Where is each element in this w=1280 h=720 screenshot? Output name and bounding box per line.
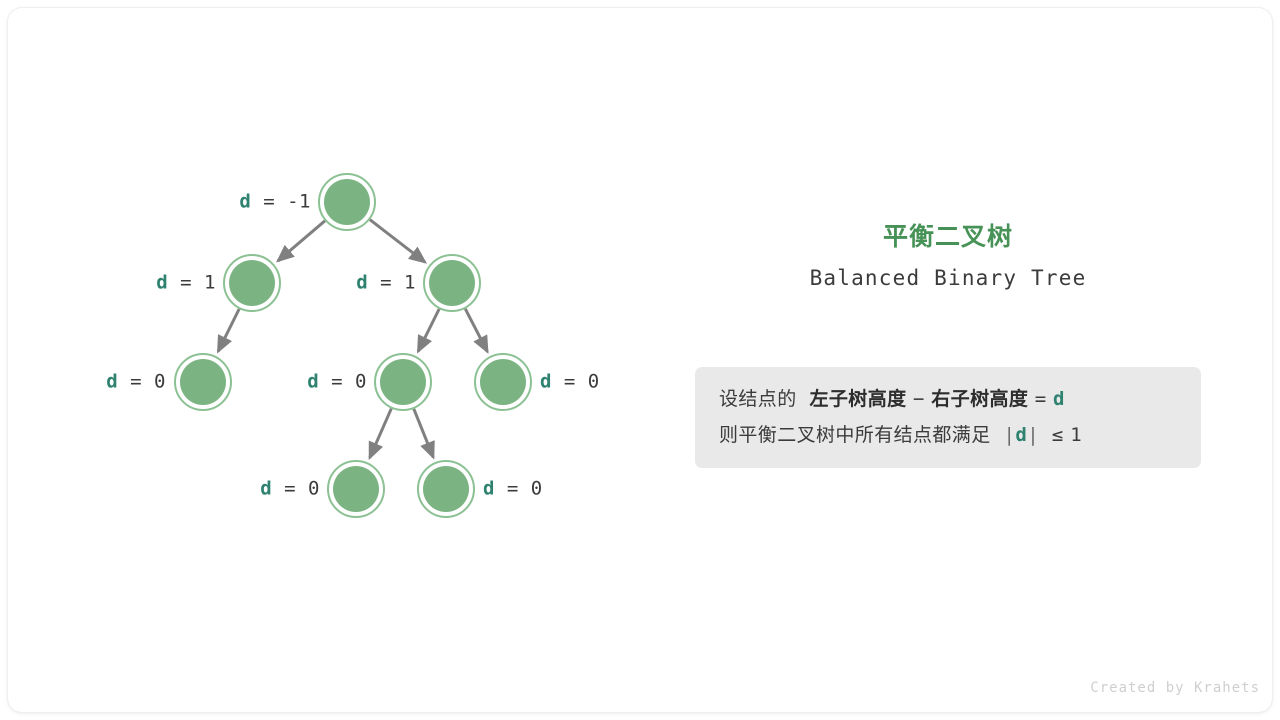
formula-minus: − bbox=[913, 388, 925, 410]
node-balance-label: d = 0 bbox=[106, 373, 166, 392]
tree-node bbox=[328, 461, 384, 517]
node-fill bbox=[380, 359, 426, 405]
node-label-variable: d bbox=[483, 478, 495, 500]
formula-box: 设结点的 左子树高度 − 右子树高度 = d 则平衡二叉树中所有结点都满足 |d… bbox=[695, 367, 1201, 468]
tree-node bbox=[475, 354, 531, 410]
node-label-variable: d bbox=[106, 371, 118, 393]
node-label-variable: d bbox=[239, 191, 251, 213]
node-fill bbox=[229, 260, 275, 306]
formula-term-right: 右子树高度 bbox=[931, 388, 1028, 410]
tree-edge bbox=[278, 221, 325, 261]
node-label-value: = 1 bbox=[168, 272, 216, 294]
node-fill bbox=[333, 466, 379, 512]
tree-edge bbox=[465, 309, 487, 352]
tree-edge bbox=[370, 409, 392, 458]
node-balance-label: d = 1 bbox=[156, 274, 216, 293]
tree-node bbox=[375, 354, 431, 410]
node-balance-label: d = 0 bbox=[540, 373, 600, 392]
node-label-value: = 0 bbox=[552, 371, 600, 393]
node-fill bbox=[480, 359, 526, 405]
node-label-variable: d bbox=[540, 371, 552, 393]
node-label-value: = 0 bbox=[118, 371, 166, 393]
binary-tree-graphic bbox=[0, 0, 1280, 720]
node-label-variable: d bbox=[156, 272, 168, 294]
tree-edge bbox=[370, 220, 425, 263]
panel-title: 平衡二叉树 bbox=[695, 222, 1201, 252]
node-balance-label: d = 0 bbox=[483, 480, 543, 499]
tree-nodes bbox=[175, 174, 531, 517]
node-fill bbox=[429, 260, 475, 306]
node-balance-label: d = 0 bbox=[260, 480, 320, 499]
tree-edge bbox=[418, 309, 439, 352]
formula-variable-d-abs: d bbox=[1015, 424, 1027, 446]
diagram-canvas: d = -1d = 1d = 1d = 0d = 0d = 0d = 0d = … bbox=[0, 0, 1280, 720]
tree-edge bbox=[218, 309, 239, 352]
tree-node bbox=[418, 461, 474, 517]
formula-relation: ≤ bbox=[1052, 424, 1064, 446]
formula-term-left: 左子树高度 bbox=[810, 388, 907, 410]
node-label-value: = 0 bbox=[272, 478, 320, 500]
node-label-variable: d bbox=[307, 371, 319, 393]
panel-subtitle: Balanced Binary Tree bbox=[695, 266, 1201, 291]
formula-equals: = bbox=[1035, 388, 1047, 410]
node-balance-label: d = 1 bbox=[356, 274, 416, 293]
tree-edge bbox=[414, 409, 434, 458]
formula-prefix-2: 则平衡二叉树中所有结点都满足 bbox=[719, 424, 991, 446]
node-label-value: = 0 bbox=[495, 478, 543, 500]
node-balance-label: d = 0 bbox=[307, 373, 367, 392]
tree-node bbox=[319, 174, 375, 230]
credit-text: Created by Krahets bbox=[1090, 680, 1260, 696]
formula-value: 1 bbox=[1070, 424, 1082, 446]
info-panel: 平衡二叉树 Balanced Binary Tree bbox=[695, 222, 1201, 291]
tree-node bbox=[224, 255, 280, 311]
node-label-variable: d bbox=[260, 478, 272, 500]
node-fill bbox=[180, 359, 226, 405]
abs-bar-close: | bbox=[1027, 424, 1039, 446]
node-balance-label: d = -1 bbox=[239, 193, 311, 212]
tree-node bbox=[175, 354, 231, 410]
node-label-value: = 1 bbox=[368, 272, 416, 294]
formula-prefix-1: 设结点的 bbox=[719, 388, 797, 410]
node-fill bbox=[324, 179, 370, 225]
tree-node bbox=[424, 255, 480, 311]
node-label-variable: d bbox=[356, 272, 368, 294]
node-label-value: = -1 bbox=[251, 191, 311, 213]
node-label-value: = 0 bbox=[319, 371, 367, 393]
formula-line-1: 设结点的 左子树高度 − 右子树高度 = d bbox=[719, 381, 1177, 417]
formula-line-2: 则平衡二叉树中所有结点都满足 |d| ≤ 1 bbox=[719, 417, 1177, 453]
node-fill bbox=[423, 466, 469, 512]
formula-variable-d: d bbox=[1053, 388, 1065, 410]
abs-bar-open: | bbox=[1004, 424, 1016, 446]
